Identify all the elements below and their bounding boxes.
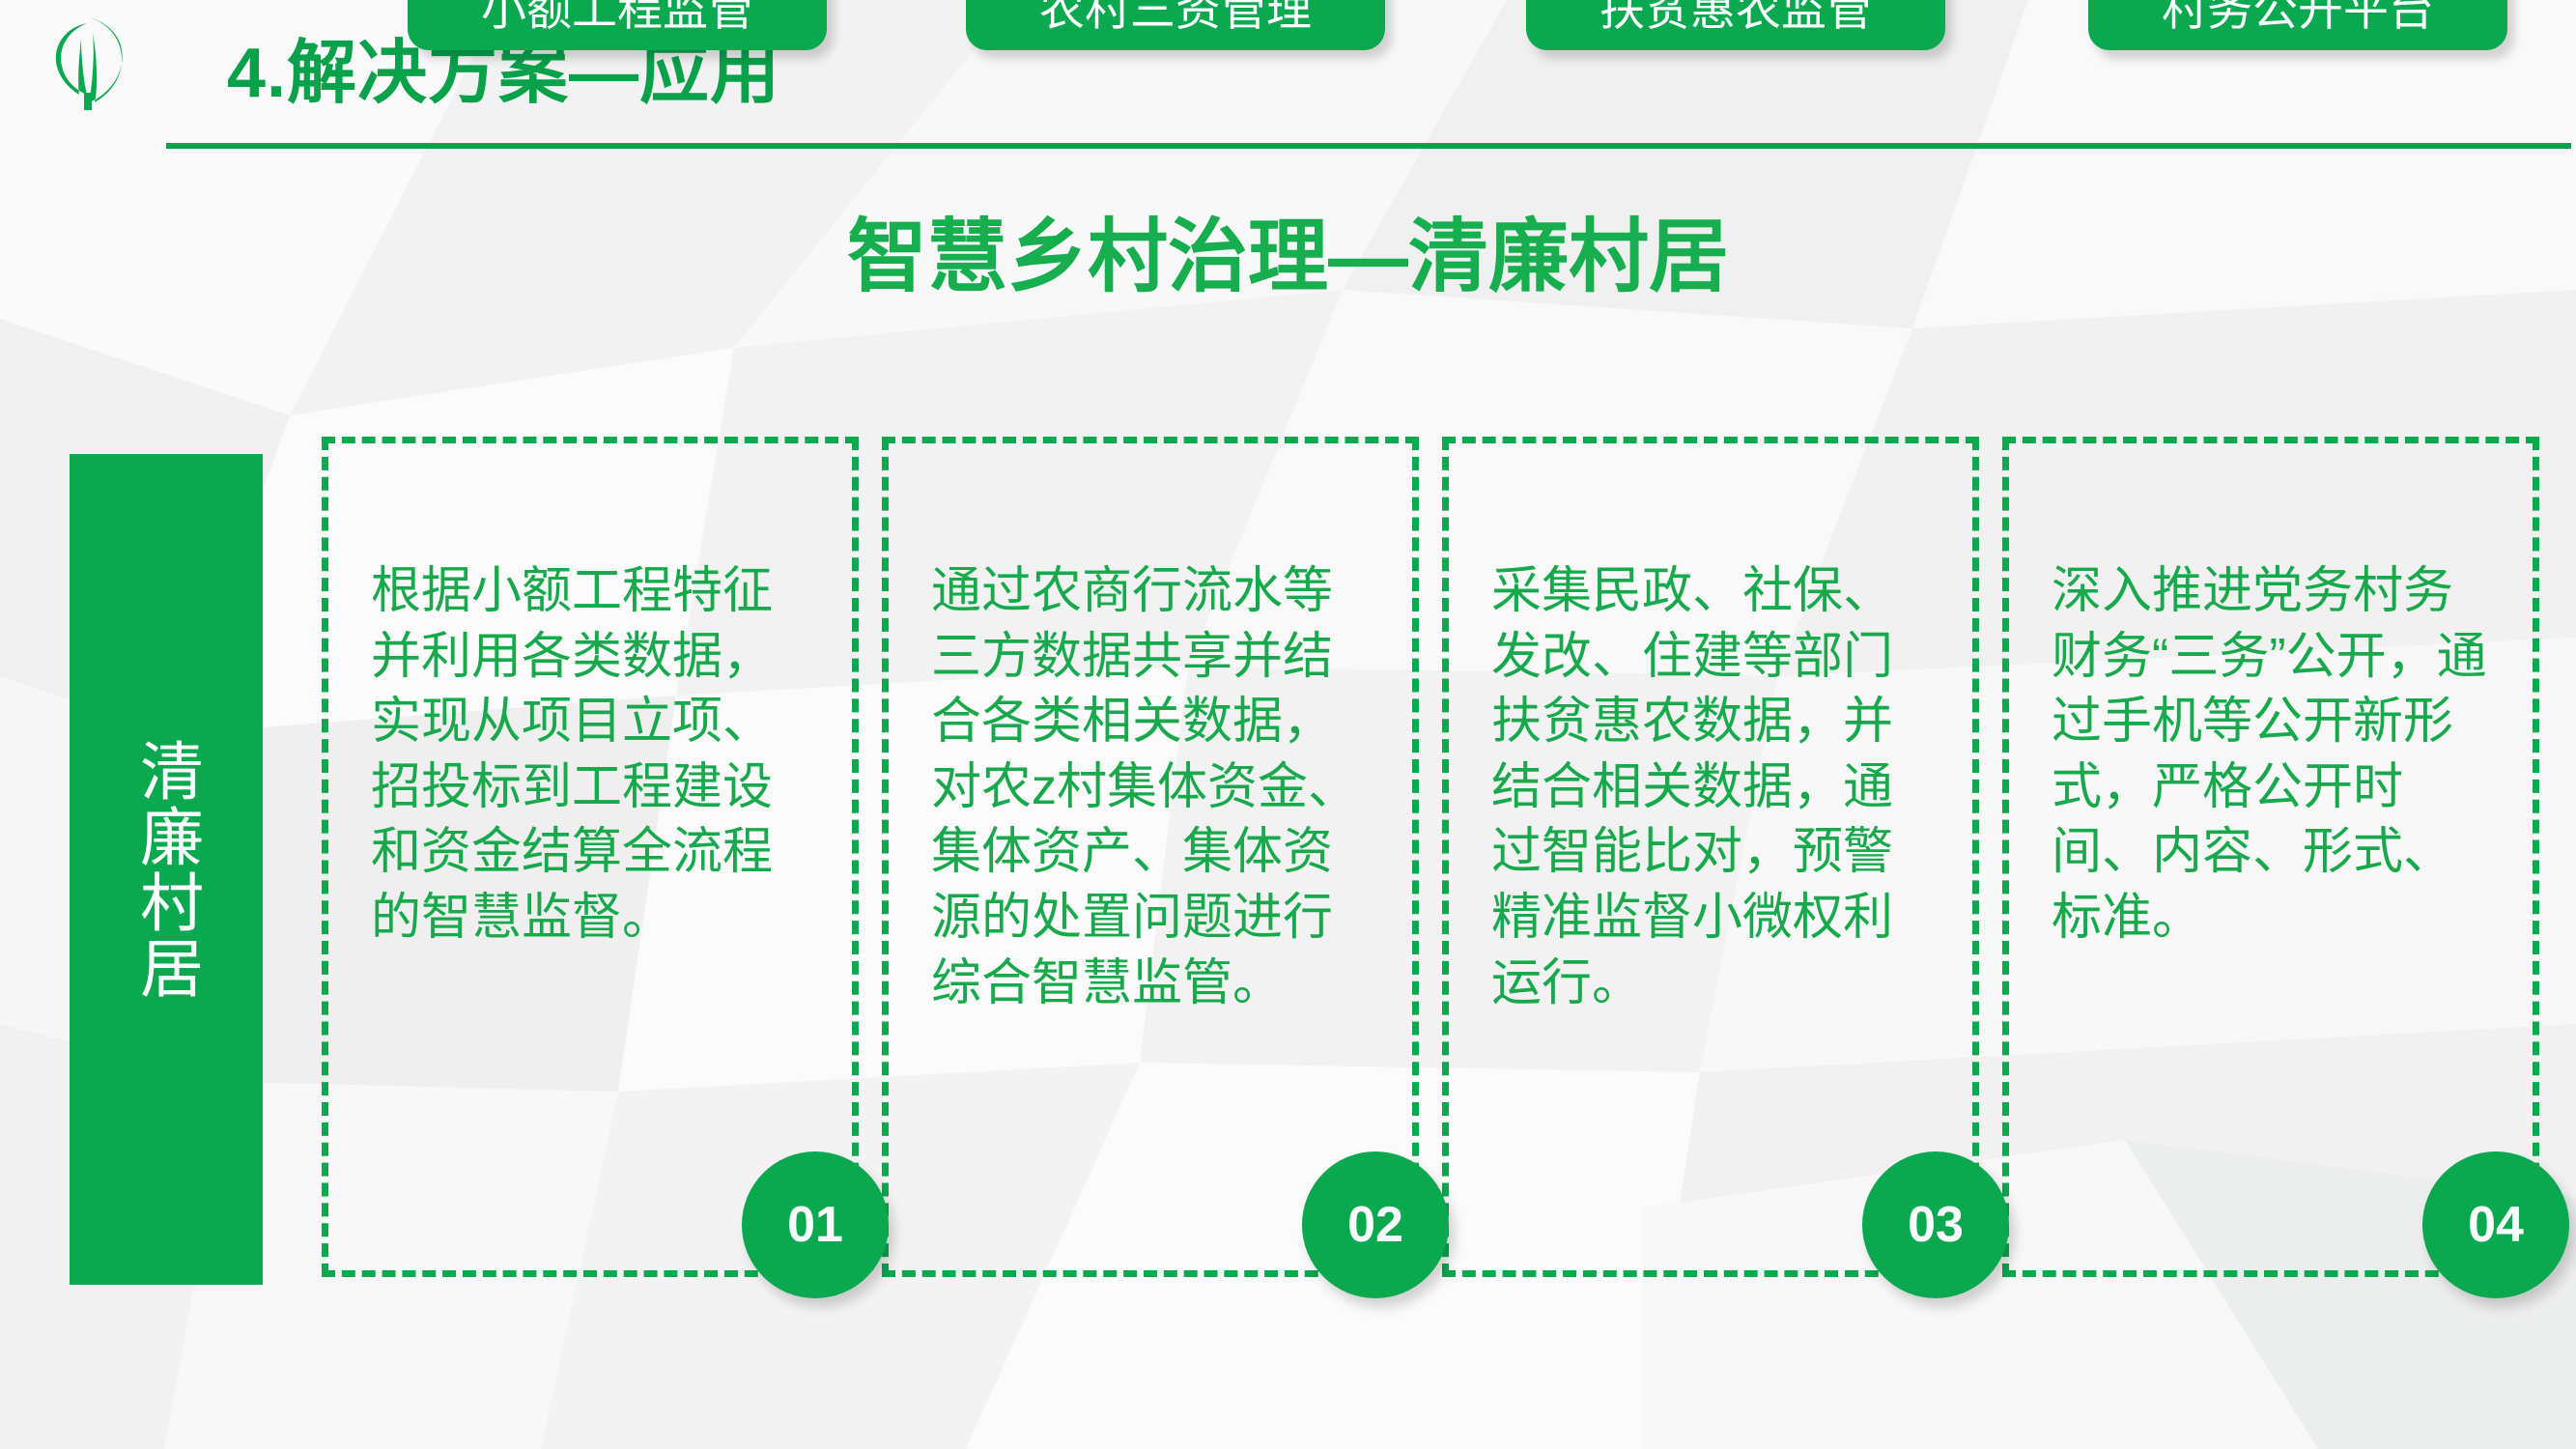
feature-card-2[interactable]: 通过农商行流水等三方数据共享并结合各类相关数据，对农z村集体资金、集体资产、集体… (882, 437, 1419, 1277)
left-category-label: 清廉村居 (130, 738, 202, 1001)
leaf-icon (39, 10, 140, 111)
feature-card-1-number-badge: 01 (742, 1151, 889, 1298)
feature-card-2-body: 通过农商行流水等三方数据共享并结合各类相关数据，对农z村集体资金、集体资产、集体… (931, 559, 1379, 1016)
left-category-bar: 清廉村居 (70, 454, 263, 1285)
feature-card-3-body: 采集民政、社保、发改、住建等部门扶贫惠农数据，并结合相关数据，通过智能比对，预警… (1491, 559, 1939, 1016)
feature-card-4[interactable]: 深入推进党务村务财务“三务”公开，通过手机等公开新形式，严格公开时间、内容、形式… (2002, 437, 2539, 1277)
feature-card-3-number-badge: 03 (1862, 1151, 2009, 1298)
feature-card-4-title[interactable]: 村务公开平台 (2088, 0, 2507, 50)
feature-card-1-title[interactable]: 小额工程监管 (408, 0, 827, 50)
feature-card-3-title[interactable]: 扶贫惠农监管 (1526, 0, 1945, 50)
feature-card-2-title[interactable]: 农村三资管理 (966, 0, 1385, 50)
header-divider (166, 143, 2571, 149)
feature-card-4-body: 深入推进党务村务财务“三务”公开，通过手机等公开新形式，严格公开时间、内容、形式… (2052, 559, 2500, 952)
main-title: 智慧乡村治理—清廉村居 (0, 191, 2576, 307)
feature-card-4-number-badge: 04 (2422, 1151, 2569, 1298)
slide-canvas: 4.解决方案—应用 智慧乡村治理—清廉村居 清廉村居 根据小额工程特征并利用各类… (0, 0, 2576, 1449)
feature-card-2-number-badge: 02 (1302, 1151, 1449, 1298)
feature-card-1-body: 根据小额工程特征并利用各类数据，实现从项目立项、招投标到工程建设和资金结算全流程… (371, 559, 819, 952)
feature-card-1[interactable]: 根据小额工程特征并利用各类数据，实现从项目立项、招投标到工程建设和资金结算全流程… (322, 437, 859, 1277)
feature-card-3[interactable]: 采集民政、社保、发改、住建等部门扶贫惠农数据，并结合相关数据，通过智能比对，预警… (1442, 437, 1979, 1277)
